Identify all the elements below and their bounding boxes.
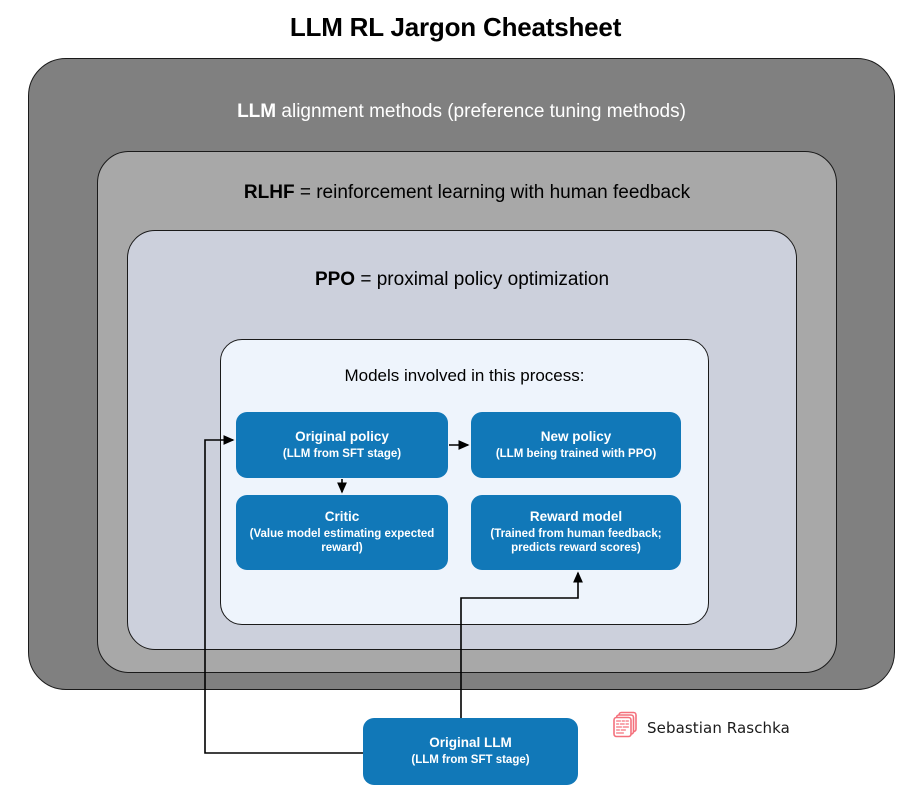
node-critic[interactable]: Critic (Value model estimating expected … xyxy=(236,495,448,570)
layer-llm-alignment-label-bold: LLM xyxy=(237,101,276,122)
layer-llm-alignment-methods: LLM alignment methods (preference tuning… xyxy=(28,58,895,690)
node-new-policy[interactable]: New policy (LLM being trained with PPO) xyxy=(471,412,681,478)
layer-rlhf-label-bold: RLHF xyxy=(244,182,295,203)
node-original-llm-subtitle: (LLM from SFT stage) xyxy=(411,753,529,768)
node-critic-subtitle: (Value model estimating expected reward) xyxy=(244,527,440,556)
models-involved-label: Models involved in this process: xyxy=(221,366,708,386)
layer-ppo-label-bold: PPO xyxy=(315,269,355,290)
node-original-policy[interactable]: Original policy (LLM from SFT stage) xyxy=(236,412,448,478)
layer-ppo: PPO = proximal policy optimization Model… xyxy=(127,230,797,650)
layer-rlhf-label-rest: = reinforcement learning with human feed… xyxy=(295,182,691,203)
layer-models-involved: Models involved in this process: xyxy=(220,339,709,625)
page-title: LLM RL Jargon Cheatsheet xyxy=(0,12,911,43)
diagram-canvas: LLM RL Jargon Cheatsheet LLM alignment m… xyxy=(0,0,911,807)
node-new-policy-title: New policy xyxy=(541,429,612,446)
node-reward-model-subtitle: (Trained from human feedback; predicts r… xyxy=(479,527,673,556)
node-reward-model-title: Reward model xyxy=(530,509,622,526)
layer-llm-alignment-label-rest: alignment methods (preference tuning met… xyxy=(276,101,686,122)
node-critic-title: Critic xyxy=(325,509,360,526)
node-original-policy-subtitle: (LLM from SFT stage) xyxy=(283,447,401,462)
node-original-llm[interactable]: Original LLM (LLM from SFT stage) xyxy=(363,718,578,785)
node-new-policy-subtitle: (LLM being trained with PPO) xyxy=(496,447,656,462)
node-reward-model[interactable]: Reward model (Trained from human feedbac… xyxy=(471,495,681,570)
layer-rlhf-label: RLHF = reinforcement learning with human… xyxy=(98,182,836,204)
layer-llm-alignment-label: LLM alignment methods (preference tuning… xyxy=(29,101,894,123)
layer-ppo-label-rest: = proximal policy optimization xyxy=(355,269,609,290)
signature: Sebastian Raschka xyxy=(612,710,790,745)
layer-ppo-label: PPO = proximal policy optimization xyxy=(128,269,796,291)
stacked-cards-icon xyxy=(612,710,640,745)
layer-rlhf: RLHF = reinforcement learning with human… xyxy=(97,151,837,673)
signature-name: Sebastian Raschka xyxy=(647,719,790,737)
node-original-llm-title: Original LLM xyxy=(429,735,512,752)
node-original-policy-title: Original policy xyxy=(295,429,389,446)
